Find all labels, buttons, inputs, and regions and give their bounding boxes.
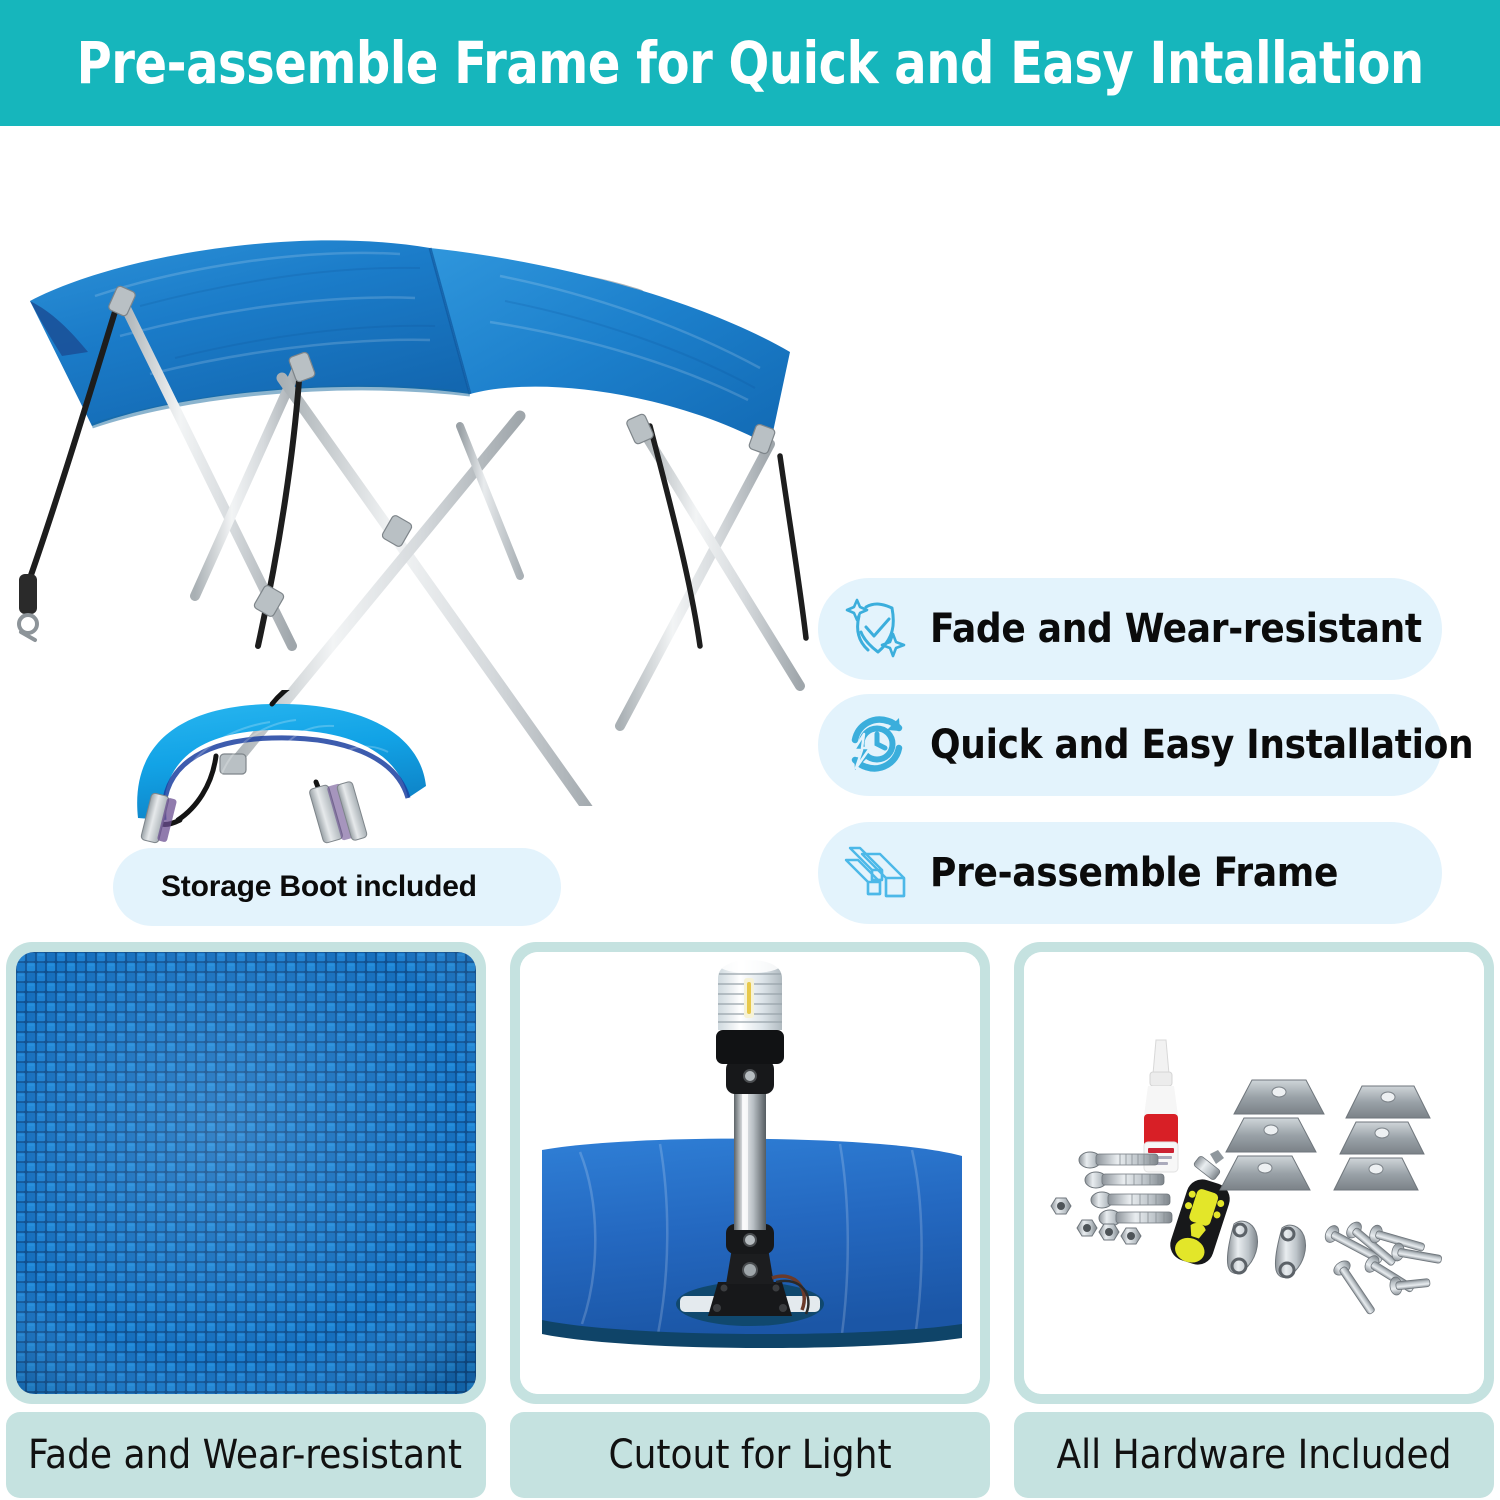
storage-boot-label-pill: Storage Boot included <box>113 848 561 926</box>
card-all-hardware-included: All Hardware Included <box>1014 942 1494 1500</box>
woven-fabric-closeup-image <box>16 952 476 1394</box>
card-caption-text-2: All Hardware Included <box>1057 1432 1452 1478</box>
feature-cards-row: Fade and Wear-resistant <box>0 942 1500 1500</box>
card-frame <box>6 942 486 1404</box>
card-caption-2: All Hardware Included <box>1014 1412 1494 1498</box>
feature-label-1: Quick and Easy Installation <box>930 722 1473 768</box>
card-caption-text-1: Cutout for Light <box>608 1432 891 1478</box>
card-caption-0: Fade and Wear-resistant <box>6 1412 486 1498</box>
navigation-light-image <box>520 952 980 1394</box>
card-frame <box>1014 942 1494 1404</box>
feature-pill-quick-installation: Quick and Easy Installation <box>818 694 1442 796</box>
stacked-tubes-icon <box>840 836 914 910</box>
clock-refresh-bolt-icon <box>840 708 914 782</box>
shield-check-sparkle-icon <box>840 592 914 666</box>
card-caption-text-0: Fade and Wear-resistant <box>28 1432 462 1478</box>
card-caption-1: Cutout for Light <box>510 1412 990 1498</box>
storage-boot-label: Storage Boot included <box>161 870 477 904</box>
page-title: Pre-assemble Frame for Quick and Easy In… <box>76 34 1423 92</box>
hardware-kit-image <box>1024 952 1484 1394</box>
storage-boot-image <box>120 690 450 850</box>
feature-pill-preassemble-frame: Pre-assemble Frame <box>818 822 1442 924</box>
card-cutout-for-light: Cutout for Light <box>510 942 990 1500</box>
card-frame <box>510 942 990 1404</box>
card-fade-resistant: Fade and Wear-resistant <box>6 942 486 1500</box>
feature-pill-fade-resistant: Fade and Wear-resistant <box>818 578 1442 680</box>
feature-label-0: Fade and Wear-resistant <box>930 606 1422 652</box>
folded-bimini-boot-illustration <box>120 690 450 850</box>
feature-label-2: Pre-assemble Frame <box>930 850 1338 896</box>
header-banner: Pre-assemble Frame for Quick and Easy In… <box>0 0 1500 126</box>
